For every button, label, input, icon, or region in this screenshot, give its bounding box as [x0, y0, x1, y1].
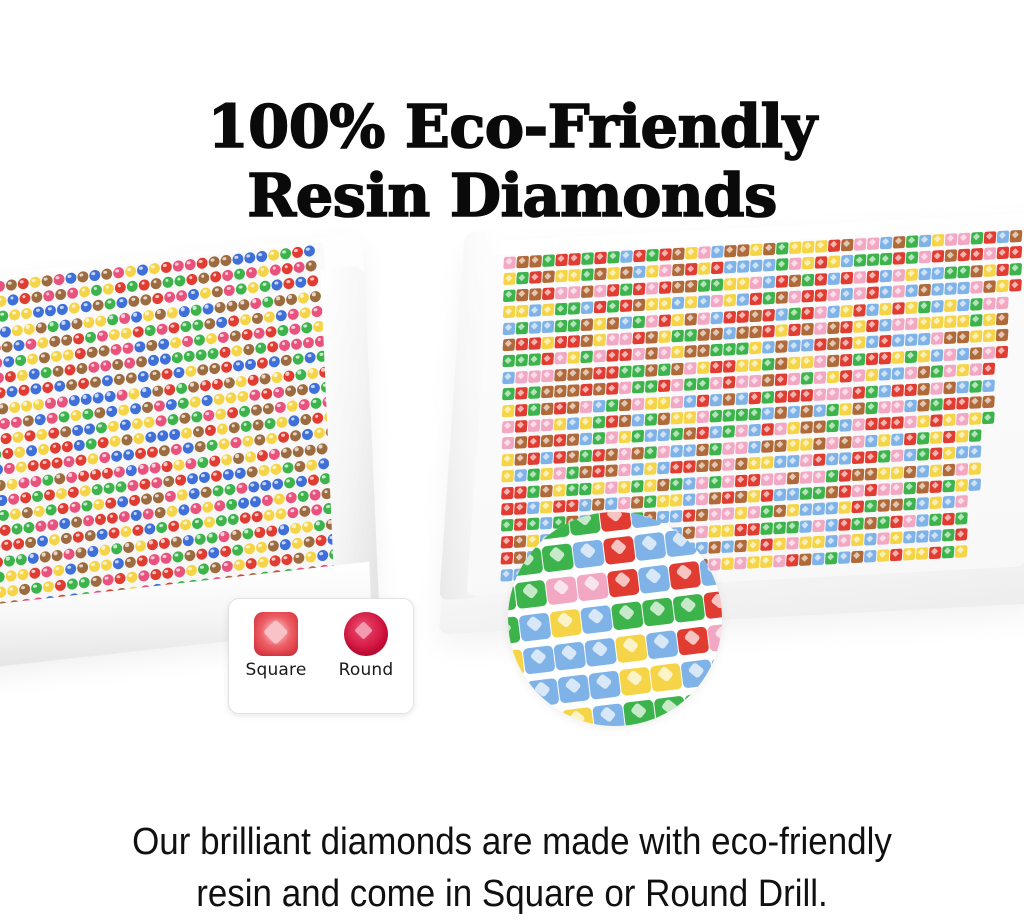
square-drill-bead: [658, 396, 671, 409]
round-drill-bead: [314, 427, 325, 439]
square-drill-bead: [854, 238, 867, 251]
closeup-square-drill-bead: [561, 707, 594, 726]
square-drill-bead: [747, 539, 760, 552]
round-drill-bead: [88, 361, 99, 373]
round-drill-bead: [24, 430, 35, 442]
round-drill-bead: [0, 310, 9, 322]
square-drill-bead: [709, 476, 722, 489]
round-drill-bead: [281, 355, 292, 367]
square-drill-bead: [735, 408, 748, 421]
round-drill-bead: [0, 417, 10, 429]
closeup-square-drill-bead: [607, 568, 640, 597]
square-drill-bead: [697, 394, 710, 407]
square-drill-bead: [957, 348, 970, 361]
round-drill-bead: [248, 282, 259, 294]
square-drill-bead: [566, 483, 579, 496]
round-drill-bead: [303, 536, 314, 548]
square-drill-bead: [775, 341, 788, 354]
round-drill-bead: [61, 533, 72, 545]
square-drill-bead: [775, 291, 788, 304]
square-drill-bead: [892, 318, 905, 331]
round-drill-bead: [103, 482, 114, 494]
round-drill-bead: [233, 452, 244, 464]
square-drill-bead: [529, 288, 542, 301]
round-drill-bead: [89, 269, 100, 281]
round-drill-bead: [33, 306, 44, 318]
square-drill-bead: [827, 338, 840, 351]
round-drill-bead: [208, 547, 219, 559]
square-drill-bead: [944, 315, 957, 328]
square-drill-bead: [749, 309, 762, 322]
closeup-square-drill-bead: [654, 696, 687, 725]
square-drill-bead: [930, 431, 943, 444]
square-drill-bead: [697, 312, 710, 325]
round-drill-bead: [72, 424, 83, 436]
round-drill-bead: [165, 490, 176, 502]
round-drill-bead: [293, 353, 304, 365]
square-drill-bead: [762, 374, 775, 387]
product-feature-image: 100% Eco-Friendly Resin Diamonds Square: [0, 0, 1024, 923]
round-drill-bead: [221, 453, 232, 465]
round-drill-bead: [246, 558, 257, 570]
square-drill-bead: [711, 246, 724, 259]
round-drill-bead: [80, 393, 91, 405]
square-drill-bead: [800, 454, 813, 467]
square-drill-bead: [852, 468, 865, 481]
square-drill-bead: [721, 541, 734, 554]
square-drill-bead: [997, 231, 1010, 244]
round-drill-bead: [98, 437, 109, 449]
square-drill-bead: [786, 537, 799, 550]
round-drill-bead: [31, 291, 42, 303]
square-drill-bead: [865, 418, 878, 431]
square-drill-bead: [503, 273, 516, 286]
square-drill-bead: [957, 249, 970, 262]
tray-inner-surface: [0, 242, 338, 616]
round-drill-bead: [213, 393, 224, 405]
round-drill-bead: [193, 426, 204, 438]
round-drill-bead: [9, 309, 20, 321]
square-drill-bead: [956, 430, 969, 443]
square-drill-bead: [671, 330, 684, 343]
square-drill-bead: [955, 545, 968, 558]
round-drill-bead: [202, 302, 213, 314]
square-drill-bead: [502, 355, 515, 368]
square-drill-bead: [645, 397, 658, 410]
round-drill-bead: [216, 515, 227, 527]
round-drill-bead: [142, 309, 153, 321]
round-drill-bead: [49, 534, 60, 546]
square-drill-bead: [996, 313, 1009, 326]
square-drill-bead: [566, 467, 579, 480]
round-drill-bead: [147, 446, 158, 458]
round-drill-bead: [228, 514, 239, 526]
square-drill-bead: [878, 401, 891, 414]
square-drill-bead: [724, 261, 737, 274]
square-drill-bead: [659, 298, 672, 311]
square-drill-bead: [812, 552, 825, 565]
round-drill-bead: [41, 275, 52, 287]
round-drill-bead: [78, 378, 89, 390]
round-drill-bead: [93, 498, 104, 510]
square-drill-bead: [904, 383, 917, 396]
square-drill-bead: [789, 274, 802, 287]
round-drill-bead: [43, 581, 54, 593]
round-drill-bead: [256, 449, 267, 461]
round-drill-bead: [174, 367, 185, 379]
square-drill-bead: [555, 270, 568, 283]
square-drill-bead: [593, 400, 606, 413]
square-drill-bead: [749, 358, 762, 371]
round-drill-bead: [276, 508, 287, 520]
round-drill-bead: [149, 263, 160, 275]
round-drill-bead: [119, 511, 130, 523]
square-drill-bead: [620, 250, 633, 263]
square-drill-bead: [594, 268, 607, 281]
round-drill-bead: [169, 429, 180, 441]
round-drill-bead: [163, 276, 174, 288]
page-title: 100% Eco-Friendly Resin Diamonds: [0, 92, 1024, 231]
round-drill-bead: [266, 433, 277, 445]
square-drill-bead: [838, 502, 851, 515]
square-drill-bead: [877, 483, 890, 496]
square-drill-bead: [594, 284, 607, 297]
square-drill-bead: [671, 363, 684, 376]
square-drill-bead: [852, 435, 865, 448]
square-drill-bead: [723, 294, 736, 307]
square-drill-bead: [503, 322, 516, 335]
round-drill-bead: [226, 300, 237, 312]
round-drill-bead: [124, 357, 135, 369]
round-drill-bead: [128, 387, 139, 399]
round-drill-bead: [87, 545, 98, 557]
square-drill-bead: [1009, 279, 1022, 292]
square-drill-bead: [763, 259, 776, 272]
round-drill-bead: [155, 507, 166, 519]
square-drill-bead: [828, 256, 841, 269]
square-drill-bead: [553, 484, 566, 497]
closeup-square-drill-bead: [638, 565, 671, 594]
square-drill-bead: [581, 318, 594, 331]
round-drill-bead: [6, 279, 17, 291]
round-drill-bead: [135, 448, 146, 460]
closeup-square-drill-bead: [688, 725, 721, 726]
square-drill-bead: [943, 365, 956, 378]
round-drill-bead: [0, 586, 7, 598]
square-drill-bead: [501, 470, 514, 483]
legend-item-round: Round: [334, 612, 398, 680]
square-drill-bead: [815, 256, 828, 269]
legend-label-square: Square: [244, 660, 308, 680]
round-drill-bead: [303, 337, 314, 349]
round-drill-bead: [195, 441, 206, 453]
round-drill-bead: [200, 486, 211, 498]
square-drill-bead: [684, 395, 697, 408]
round-drill-bead: [29, 368, 40, 380]
square-drill-bead: [567, 417, 580, 430]
square-drill-bead: [606, 399, 619, 412]
round-drill-bead: [194, 533, 205, 545]
round-drill-bead: [48, 427, 59, 439]
round-drill-bead: [231, 345, 242, 357]
round-drill-bead: [286, 492, 297, 504]
square-drill-bead: [982, 379, 995, 392]
round-drill-bead: [215, 408, 226, 420]
square-drill-bead: [877, 500, 890, 513]
square-drill-bead: [723, 393, 736, 406]
square-drill-bead: [851, 534, 864, 547]
square-drill-bead: [762, 292, 775, 305]
square-drill-bead: [540, 484, 553, 497]
round-drill-bead: [238, 298, 249, 310]
closeup-square-drill-bead: [508, 514, 539, 543]
square-drill-bead: [865, 385, 878, 398]
round-drill-bead: [100, 452, 111, 464]
round-drill-bead: [89, 468, 100, 480]
square-drill-bead: [774, 489, 787, 502]
square-drill-bead: [801, 339, 814, 352]
round-drill-bead: [160, 552, 171, 564]
square-drill-bead: [917, 399, 930, 412]
round-drill-bead: [127, 280, 138, 292]
square-drill-bead: [684, 313, 697, 326]
square-drill-bead: [905, 301, 918, 314]
closeup-square-drill-bead: [619, 667, 652, 696]
square-drill-bead: [657, 462, 670, 475]
square-drill-bead: [646, 265, 659, 278]
round-drill-bead: [68, 394, 79, 406]
square-drill-bead: [670, 494, 683, 507]
square-drill-bead: [736, 392, 749, 405]
square-drill-bead: [684, 329, 697, 342]
square-drill-bead: [605, 497, 618, 510]
round-drill-bead: [164, 383, 175, 395]
round-drill-bead: [294, 261, 305, 273]
round-drill-bead: [290, 522, 301, 534]
square-drill-bead: [825, 502, 838, 515]
square-drill-bead: [644, 462, 657, 475]
square-drill-bead: [568, 302, 581, 315]
square-drill-bead: [579, 433, 592, 446]
round-drill-bead: [95, 315, 106, 327]
square-drill-bead: [711, 278, 724, 291]
square-drill-bead: [787, 471, 800, 484]
square-drill-bead: [696, 493, 709, 506]
square-drill-bead: [839, 419, 852, 432]
round-drill-bead: [0, 494, 7, 506]
round-drill-bead: [278, 523, 289, 535]
round-drill-bead: [248, 481, 259, 493]
square-drill-bead: [774, 456, 787, 469]
round-drill-bead: [16, 461, 27, 473]
closeup-square-drill-bead: [523, 645, 556, 674]
square-drill-bead: [568, 253, 581, 266]
square-drill-bead: [502, 437, 515, 450]
round-drill-bead: [203, 409, 214, 421]
round-drill-gem-icon: [344, 612, 388, 656]
round-drill-bead: [196, 257, 207, 269]
square-drill-bead: [917, 382, 930, 395]
round-drill-bead: [57, 304, 68, 316]
square-drill-bead: [657, 445, 670, 458]
square-drill-bead: [568, 319, 581, 332]
square-drill-bead: [555, 254, 568, 267]
round-drill-bead: [57, 502, 68, 514]
square-drill-bead: [853, 304, 866, 317]
round-drill-bead: [189, 396, 200, 408]
round-drill-bead: [317, 549, 328, 561]
round-drill-bead: [76, 454, 87, 466]
round-drill-bead: [163, 475, 174, 487]
square-drill-bead: [996, 263, 1009, 276]
square-drill-bead: [724, 278, 737, 291]
round-drill-bead: [264, 311, 275, 323]
square-drill-bead: [697, 345, 710, 358]
square-drill-bead: [542, 271, 555, 284]
round-drill-bead: [234, 268, 245, 280]
round-drill-bead: [7, 585, 18, 597]
round-drill-bead: [21, 400, 32, 412]
round-drill-bead: [258, 265, 269, 277]
round-drill-bead: [79, 286, 90, 298]
square-drill-bead: [542, 320, 555, 333]
square-drill-bead: [749, 342, 762, 355]
square-drill-bead: [683, 477, 696, 490]
square-drill-bead: [801, 372, 814, 385]
square-drill-bead: [502, 388, 515, 401]
square-drill-bead: [721, 557, 734, 570]
round-drill-bead: [301, 521, 312, 533]
square-drill-bead: [982, 396, 995, 409]
square-drill-bead: [737, 277, 750, 290]
round-drill-bead: [143, 508, 154, 520]
square-drill-bead: [670, 428, 683, 441]
round-drill-bead: [63, 349, 74, 361]
square-drill-bead: [735, 491, 748, 504]
square-drill-bead: [580, 334, 593, 347]
square-drill-bead: [775, 324, 788, 337]
round-drill-bead: [176, 382, 187, 394]
round-drill-bead: [209, 363, 220, 375]
round-drill-bead: [91, 575, 102, 587]
round-drill-bead: [244, 252, 255, 264]
round-drill-bead: [34, 505, 45, 517]
square-drill-bead: [942, 529, 955, 542]
square-drill-bead: [905, 350, 918, 363]
round-drill-bead: [164, 291, 175, 303]
round-drill-bead: [123, 541, 134, 553]
square-drill-bead: [542, 304, 555, 317]
round-drill-bead: [171, 444, 182, 456]
square-drill-bead: [879, 352, 892, 365]
round-drill-bead: [23, 323, 34, 335]
square-drill-bead: [736, 310, 749, 323]
round-drill-bead: [18, 278, 29, 290]
round-drill-bead: [297, 383, 308, 395]
round-drill-bead: [173, 260, 184, 272]
square-drill-bead: [799, 504, 812, 517]
square-drill-bead: [685, 296, 698, 309]
round-drill-bead: [250, 297, 261, 309]
square-drill-bead: [515, 371, 528, 384]
square-drill-bead: [644, 446, 657, 459]
square-drill-bead: [554, 402, 567, 415]
square-drill-bead: [581, 252, 594, 265]
round-drill-bead: [103, 283, 114, 295]
square-drill-bead: [515, 354, 528, 367]
square-drill-bead: [723, 311, 736, 324]
square-drill-bead: [839, 436, 852, 449]
square-drill-bead: [841, 239, 854, 252]
square-drill-bead: [864, 533, 877, 546]
round-drill-bead: [221, 361, 232, 373]
square-drill-bead: [867, 254, 880, 267]
closeup-square-drill-bead: [557, 674, 590, 703]
square-drill-bead: [943, 381, 956, 394]
round-drill-bead: [274, 493, 285, 505]
closeup-square-drill-bead: [531, 711, 564, 726]
square-drill-bead: [737, 244, 750, 257]
round-drill-bead: [186, 564, 197, 576]
round-drill-bead: [316, 442, 327, 454]
square-drill-bead: [762, 358, 775, 371]
square-drill-bead: [516, 321, 529, 334]
round-drill-bead: [282, 263, 293, 275]
square-drill-bead: [812, 519, 825, 532]
square-drill-bead: [736, 293, 749, 306]
square-drill-bead: [763, 243, 776, 256]
round-drill-bead: [230, 330, 241, 342]
square-drill-bead: [658, 330, 671, 343]
round-drill-bead: [117, 496, 128, 508]
round-drill-bead: [201, 394, 212, 406]
square-drill-bead: [943, 398, 956, 411]
round-drill-bead: [6, 478, 17, 490]
square-drill-bead: [956, 380, 969, 393]
round-drill-bead: [198, 272, 209, 284]
round-drill-bead: [47, 320, 58, 332]
square-drill-bead: [801, 290, 814, 303]
round-drill-bead: [30, 276, 41, 288]
square-drill-bead: [632, 332, 645, 345]
round-drill-bead: [178, 504, 189, 516]
round-drill-bead: [183, 442, 194, 454]
round-drill-bead: [305, 352, 316, 364]
round-drill-bead: [298, 490, 309, 502]
round-drill-bead: [224, 483, 235, 495]
square-drill-bead: [827, 322, 840, 335]
round-drill-bead: [17, 369, 28, 381]
square-drill-bead: [776, 242, 789, 255]
round-drill-bead: [167, 413, 178, 425]
closeup-square-drill-bead: [630, 512, 663, 529]
square-drill-bead: [788, 373, 801, 386]
square-drill-bead: [917, 465, 930, 478]
square-drill-bead: [904, 400, 917, 413]
square-drill-bead: [970, 347, 983, 360]
round-drill-bead: [234, 559, 245, 571]
square-drill-bead: [916, 514, 929, 527]
square-drill-bead: [851, 484, 864, 497]
round-drill-bead: [148, 354, 159, 366]
round-drill-bead: [237, 390, 248, 402]
round-drill-bead: [113, 267, 124, 279]
round-drill-bead: [228, 315, 239, 327]
round-drill-bead: [18, 476, 29, 488]
square-drill-bead: [594, 252, 607, 265]
round-drill-bead: [15, 553, 26, 565]
square-drill-bead: [684, 378, 697, 391]
